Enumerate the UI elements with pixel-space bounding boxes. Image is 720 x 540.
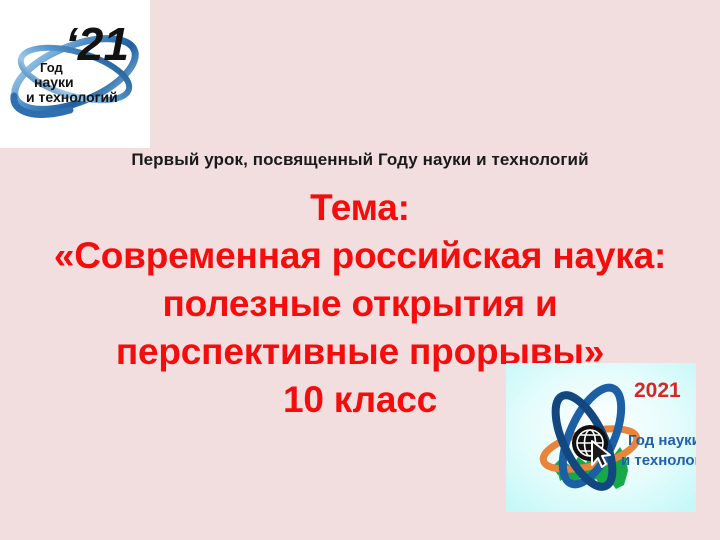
logo-word-nauki: науки bbox=[34, 74, 74, 90]
logo-year-2021: 2021 bbox=[634, 379, 681, 402]
logo-word-i-tehnologiy: и технологий bbox=[26, 89, 118, 105]
slide-subtitle: Первый урок, посвященный Году науки и те… bbox=[0, 150, 720, 170]
logo-year-of-science-2021: 2021 Год науки и технологий bbox=[506, 363, 696, 512]
logo-year-of-science-21: ‘21 Год науки и технологий bbox=[0, 0, 150, 148]
title-line-tema: Тема: bbox=[0, 184, 720, 232]
title-line-poleznye: полезные открытия и bbox=[0, 280, 720, 328]
logo-word-god: Год bbox=[40, 60, 63, 75]
logo-word-god-nauki: Год науки bbox=[628, 432, 696, 449]
logo-year-mark: ‘21 bbox=[65, 18, 129, 70]
logo-word-i-tehnologiy-2021: и технологий bbox=[621, 452, 696, 469]
presentation-slide: ‘21 Год науки и технологий Первый урок, … bbox=[0, 0, 720, 540]
title-line-sovremennaya: «Современная российская наука: bbox=[0, 232, 720, 280]
